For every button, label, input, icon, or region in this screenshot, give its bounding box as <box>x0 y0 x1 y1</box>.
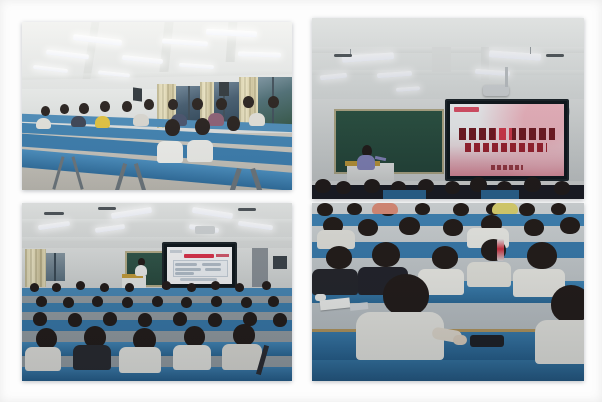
water-bottle <box>497 239 504 261</box>
audience-torso <box>222 344 262 370</box>
student-torso <box>187 140 213 162</box>
window-frame <box>54 253 56 281</box>
audience-desk <box>383 190 427 199</box>
audience-head <box>453 203 469 216</box>
student-head <box>192 98 203 110</box>
student-head <box>79 103 89 114</box>
projection-screen[interactable] <box>162 242 236 289</box>
audience-head <box>315 179 331 193</box>
audience-head <box>560 217 580 234</box>
student-torso <box>36 118 51 129</box>
projector-mount <box>505 67 508 87</box>
desk-row <box>22 288 292 295</box>
slide-text-line <box>175 272 194 275</box>
audience-head <box>241 297 252 308</box>
audience-head <box>211 296 222 307</box>
audience-head <box>347 203 362 215</box>
audience-torso <box>73 345 111 370</box>
student-torso <box>71 116 86 127</box>
audience-head <box>184 326 205 347</box>
audience-torso <box>356 312 444 360</box>
bottom-right-scene <box>312 203 584 381</box>
student-head <box>122 101 132 112</box>
audience-head <box>103 312 117 326</box>
slide-text-line <box>175 268 201 271</box>
slide-text-line <box>180 278 217 281</box>
ceiling-projector <box>195 226 215 234</box>
audience-torso <box>535 320 584 364</box>
slide-header-bar <box>454 107 479 112</box>
audience-head <box>173 312 187 326</box>
audience-head <box>372 242 400 267</box>
audience-head <box>152 296 163 307</box>
audience-head <box>383 274 429 316</box>
top-left-scene <box>22 22 292 190</box>
phone <box>350 302 369 311</box>
audience-head <box>317 203 333 216</box>
audience-head <box>33 312 47 326</box>
slide-header-label <box>170 250 182 253</box>
bottom-left-scene <box>22 203 292 381</box>
audience-head <box>415 203 430 215</box>
slide-text-line <box>175 263 197 266</box>
student-head <box>268 96 279 108</box>
student-torso <box>157 141 183 163</box>
student-head <box>41 106 50 116</box>
student-head <box>227 116 240 131</box>
audience-head <box>524 177 541 192</box>
audience-torso <box>119 347 161 373</box>
audience-head <box>326 246 352 269</box>
audience-torso <box>173 345 211 370</box>
audience-desk <box>481 190 519 199</box>
photo-bottom-left[interactable] <box>22 203 292 381</box>
ceiling-fan <box>334 54 352 57</box>
projection-screen[interactable] <box>445 99 569 181</box>
audience-head <box>122 297 133 308</box>
wall-panel <box>273 256 287 268</box>
audience-head <box>554 181 570 195</box>
slide-text-line <box>202 263 221 266</box>
audience-head <box>432 246 458 269</box>
audience-head <box>125 283 134 292</box>
slide-title-highlight <box>184 254 214 258</box>
audience-hand <box>453 335 467 345</box>
light-hanger <box>530 47 531 54</box>
ceiling-duct <box>432 47 451 72</box>
audience-head <box>36 328 57 349</box>
audience-head <box>36 296 47 307</box>
student-head <box>144 99 154 110</box>
audience-head <box>268 296 279 307</box>
slide-content <box>450 104 564 176</box>
audience-head <box>551 203 566 215</box>
wall-speaker <box>219 82 229 96</box>
photo-top-right[interactable] <box>312 18 584 199</box>
audience-torso <box>25 347 61 371</box>
student-torso <box>208 113 224 126</box>
student-torso <box>133 114 149 126</box>
student-torso <box>95 116 110 128</box>
wall-speaker <box>133 87 142 101</box>
audience-torso <box>467 262 511 287</box>
student-head <box>195 118 210 135</box>
student-head <box>216 98 227 110</box>
student-torso <box>249 113 265 126</box>
dark-object <box>470 335 504 347</box>
audience-head <box>443 219 463 236</box>
slide-title-line-2 <box>465 143 547 152</box>
audience-head <box>30 283 39 292</box>
ceiling-beam <box>22 237 292 241</box>
audience-torso <box>492 203 518 214</box>
audience-torso <box>372 203 398 214</box>
audience-head <box>92 296 103 307</box>
ceiling-fan <box>546 54 564 57</box>
audience-head <box>527 242 557 269</box>
audience-head <box>187 283 196 292</box>
top-right-scene <box>312 18 584 199</box>
audience-head <box>524 219 544 236</box>
ceiling-fan <box>98 207 116 210</box>
slide-footer-text <box>491 165 523 170</box>
slide-title-line-1 <box>459 128 554 139</box>
audience-head <box>519 203 535 216</box>
slide-text-line <box>205 268 222 271</box>
student-head <box>60 104 69 114</box>
audience-head <box>358 219 378 236</box>
student-head <box>100 101 110 112</box>
curtain <box>25 249 47 286</box>
audience-head <box>68 313 82 327</box>
audience-head <box>399 217 420 235</box>
ceiling-fan <box>44 212 64 215</box>
speaker-torso <box>357 155 375 170</box>
photo-bottom-right[interactable] <box>312 203 584 381</box>
presenter-torso <box>135 265 147 276</box>
photo-top-left[interactable] <box>22 22 292 190</box>
student-head <box>243 96 254 108</box>
photo-collage <box>0 0 602 402</box>
slide-content <box>167 247 231 284</box>
audience-head <box>364 179 380 193</box>
audience-head <box>233 324 255 346</box>
audience-torso <box>312 269 358 295</box>
audience-head <box>445 181 460 194</box>
slide-corner-tag <box>216 254 229 257</box>
earphone-case <box>315 294 326 301</box>
audience-head <box>52 283 61 292</box>
audience-head <box>63 297 74 308</box>
audience-head <box>336 181 351 194</box>
audience-head <box>551 285 584 323</box>
student-head <box>168 99 178 110</box>
ceiling-fan <box>238 208 256 211</box>
